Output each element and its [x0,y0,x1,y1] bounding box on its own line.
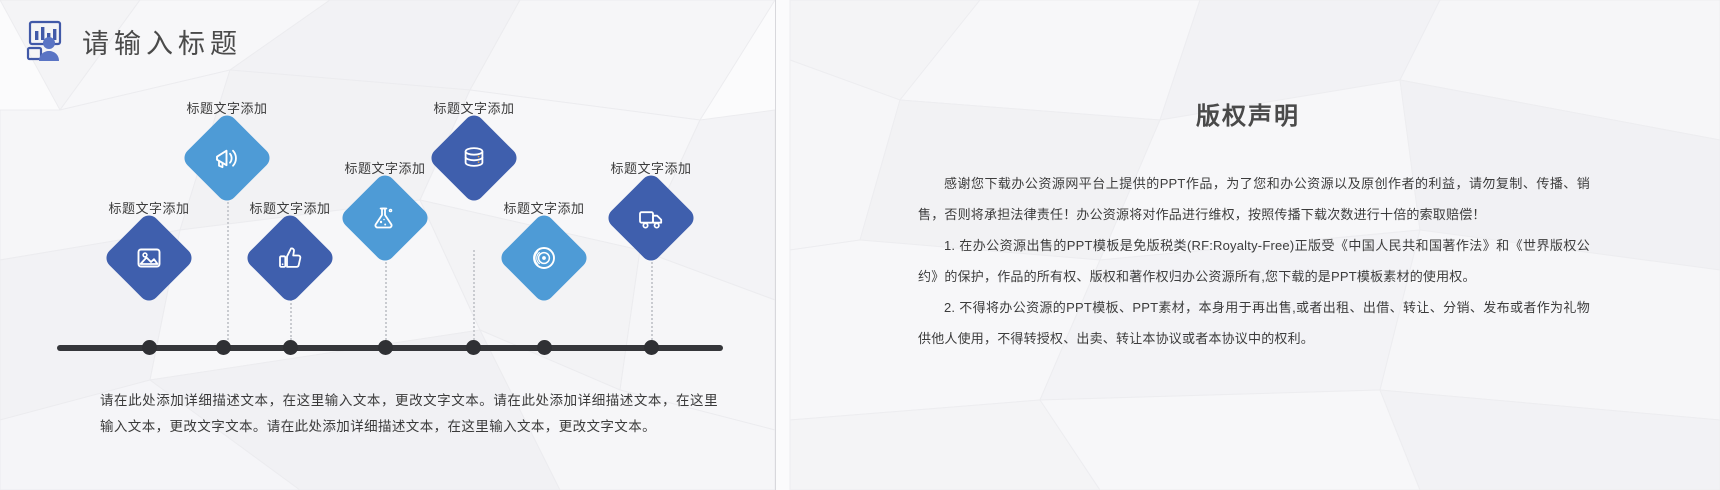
copyright-title: 版权声明 [776,96,1720,131]
megaphone-icon [180,111,273,204]
flask-icon [338,171,431,264]
timeline-dot [142,340,157,355]
presentation-chart-icon [22,18,68,64]
database-icon [427,111,520,204]
image-icon [102,211,195,304]
copyright-body: 感谢您下载办公资源网平台上提供的PPT作品，为了您和办公资源以及原创作者的利益，… [918,168,1590,354]
thumbs-up-icon [243,211,336,304]
timeline-connector [651,250,653,340]
timeline-connector [227,190,229,340]
copyright-paragraph: 感谢您下载办公资源网平台上提供的PPT作品，为了您和办公资源以及原创作者的利益，… [918,168,1590,230]
left-slide: 请输入标题 标题文字添加 [0,0,775,490]
timeline-dot [466,340,481,355]
timeline-dot [378,340,393,355]
truck-icon [604,171,697,264]
timeline-connector [473,250,475,340]
timeline-dot [644,340,659,355]
timeline-dot [283,340,298,355]
page-header: 请输入标题 [22,18,242,64]
copyright-panel: 版权声明 感谢您下载办公资源网平台上提供的PPT作品，为了您和办公资源以及原创作… [776,0,1720,490]
page-title: 请输入标题 [82,22,242,61]
copyright-paragraph: 2. 不得将办公资源的PPT模板、PPT素材，本身用于再出售,或者出租、出借、转… [918,292,1590,354]
timeline-description: 请在此处添加详细描述文本，在这里输入文本，更改文字文本。请在此处添加详细描述文本… [100,388,718,440]
timeline-dot [216,340,231,355]
disc-icon [497,211,590,304]
timeline: 标题文字添加 标题文字添加 [0,90,775,360]
copyright-paragraph: 1. 在办公资源出售的PPT模板是免版税类(RF:Royalty-Free)正版… [918,230,1590,292]
timeline-dot [537,340,552,355]
